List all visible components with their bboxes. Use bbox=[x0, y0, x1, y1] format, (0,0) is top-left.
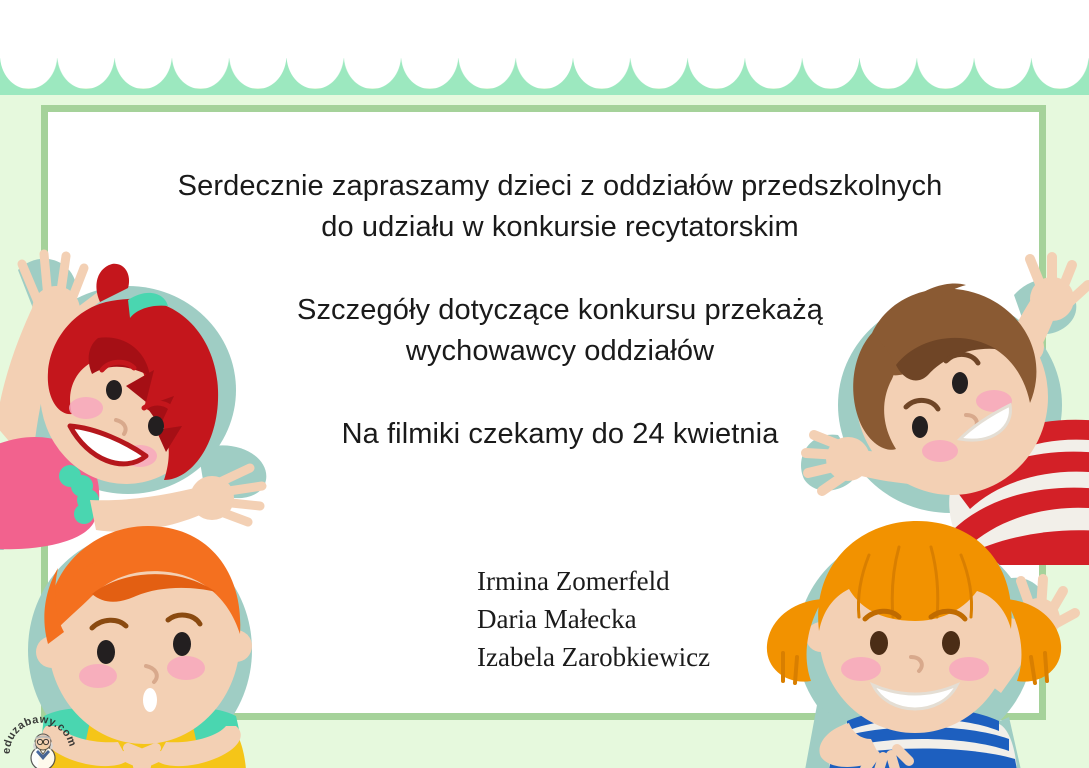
girl-red-hair-illustration bbox=[0, 230, 298, 550]
eduzabawy-watermark-logo: eduzabawy.com bbox=[4, 710, 82, 768]
girl-orange-hair-illustration bbox=[765, 525, 1085, 768]
top-white-band bbox=[0, 0, 1089, 58]
scallop-wave-decoration bbox=[0, 55, 1089, 95]
boy-brown-hair-illustration bbox=[800, 255, 1089, 565]
invitation-poster: Serdecznie zapraszamy dzieci z oddziałów… bbox=[0, 0, 1089, 768]
